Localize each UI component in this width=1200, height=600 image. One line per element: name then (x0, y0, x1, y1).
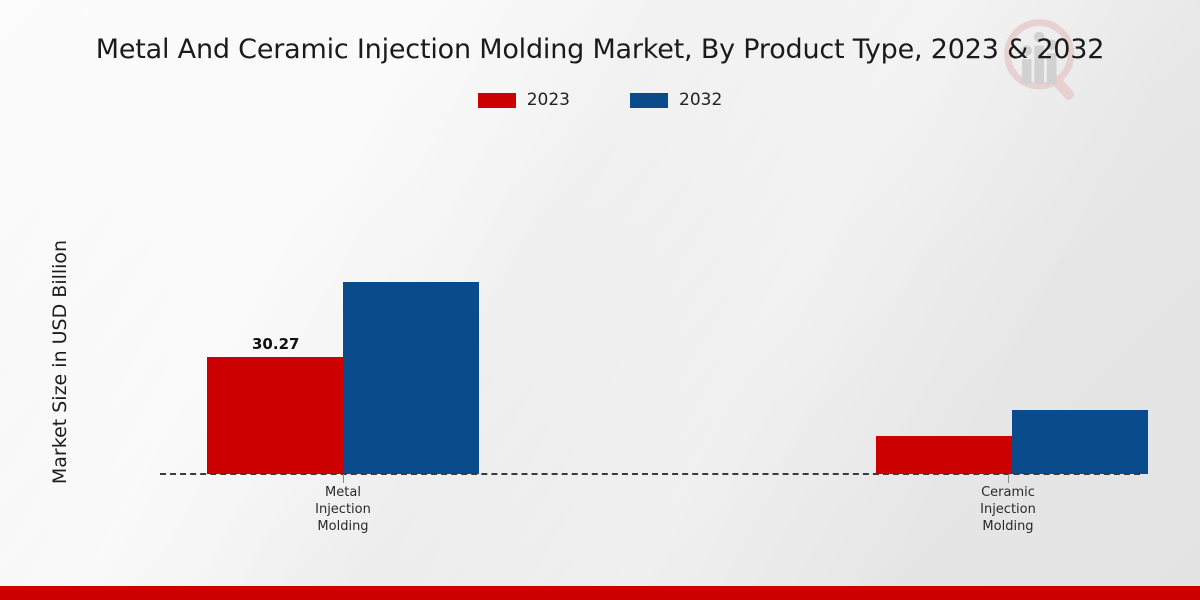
bar-metal-injection-molding-2023[interactable] (207, 357, 343, 474)
chart-page: Metal And Ceramic Injection Molding Mark… (0, 0, 1200, 600)
x-axis-label-line: Metal (243, 484, 443, 501)
x-axis-label-ceramic-injection-molding: Ceramic Injection Molding (908, 484, 1108, 535)
plot-area: 30.27 Metal Injection Molding Ceramic In… (0, 0, 1200, 600)
data-label-metal-2023: 30.27 (252, 335, 299, 353)
bar-ceramic-injection-molding-2023[interactable] (876, 436, 1012, 474)
x-axis-baseline (160, 473, 1140, 475)
bar-ceramic-injection-molding-2032[interactable] (1012, 410, 1148, 474)
x-axis-tick-metal (343, 474, 344, 483)
x-axis-label-metal-injection-molding: Metal Injection Molding (243, 484, 443, 535)
x-axis-tick-ceramic (1008, 474, 1009, 483)
x-axis-label-line: Injection (243, 501, 443, 518)
x-axis-label-line: Injection (908, 501, 1108, 518)
x-axis-label-line: Ceramic (908, 484, 1108, 501)
x-axis-label-line: Molding (908, 518, 1108, 535)
x-axis-label-line: Molding (243, 518, 443, 535)
bar-metal-injection-molding-2032[interactable] (343, 282, 479, 474)
footer-accent-stripe (0, 586, 1200, 600)
